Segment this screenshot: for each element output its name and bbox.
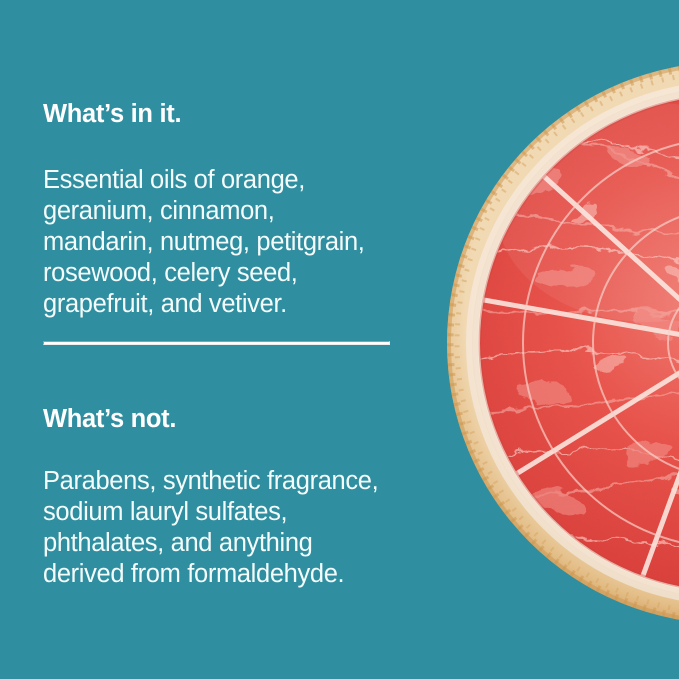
excluded-line-2: sodium lauryl sulfates, xyxy=(43,497,378,528)
ingredients-line-4: rosewood, celery seed, xyxy=(43,258,365,289)
ingredients-line-5: grapefruit, and vetiver. xyxy=(43,289,365,320)
excluded-list: Parabens, synthetic fragrance, sodium la… xyxy=(43,466,378,590)
excluded-line-3: phthalates, and anything xyxy=(43,528,378,559)
ingredients-line-3: mandarin, nutmeg, petitgrain, xyxy=(43,227,365,258)
ingredients-line-1: Essential oils of orange, xyxy=(43,165,365,196)
excluded-line-1: Parabens, synthetic fragrance, xyxy=(43,466,378,497)
copy-panel: What’s in it. Essential oils of orange, … xyxy=(0,0,460,679)
heading-whats-in-it: What’s in it. xyxy=(43,100,181,129)
section-divider xyxy=(43,341,390,345)
ingredients-list: Essential oils of orange, geranium, cinn… xyxy=(43,165,365,320)
heading-whats-not: What’s not. xyxy=(43,405,176,434)
excluded-line-4: derived from formaldehyde. xyxy=(43,559,378,590)
grapefruit-slice-image xyxy=(447,62,679,624)
product-ingredient-panel: What’s in it. Essential oils of orange, … xyxy=(0,0,679,679)
ingredients-line-2: geranium, cinnamon, xyxy=(43,196,365,227)
